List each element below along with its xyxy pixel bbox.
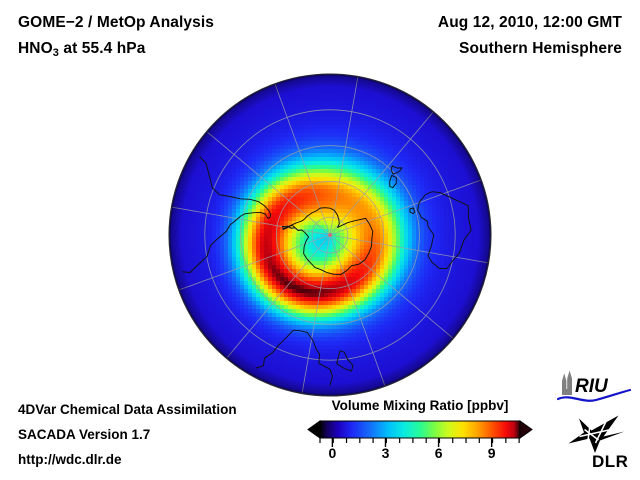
title-species-level: HNO3 at 55.4 hPa — [18, 40, 145, 59]
colorbar-title: Volume Mixing Ratio [ppbv] — [306, 398, 534, 413]
level-label: at 55.4 hPa — [59, 40, 146, 57]
title-instrument: GOME−2 / MetOp Analysis — [18, 14, 214, 32]
footer-url[interactable]: http://wdc.dlr.de — [18, 452, 122, 467]
polar-stereographic-globe — [168, 73, 492, 397]
colorbar-tick-label: 9 — [488, 445, 496, 461]
title-hemisphere: Southern Hemisphere — [459, 40, 622, 58]
colorbar-block: Volume Mixing Ratio [ppbv] 0369 — [306, 398, 534, 476]
dlr-logo: DLR — [562, 413, 636, 471]
colorbar-gradient — [308, 421, 532, 438]
dlr-wordmark: DLR — [592, 452, 628, 471]
colorbar-tick-label: 3 — [382, 445, 390, 461]
riu-spires-icon — [562, 371, 572, 396]
riu-logo: RIU — [556, 369, 634, 405]
dlr-mark-icon — [569, 416, 625, 454]
colorbar — [306, 419, 534, 461]
limb-shading — [169, 74, 491, 396]
polar-map — [168, 73, 492, 397]
footer-version: SACADA Version 1.7 — [18, 427, 150, 442]
title-datetime: Aug 12, 2010, 12:00 GMT — [438, 14, 622, 32]
footer-method: 4DVar Chemical Data Assimilation — [18, 402, 237, 417]
riu-wordmark: RIU — [575, 376, 609, 397]
species-label: HNO — [18, 40, 53, 57]
colorbar-tick-label: 6 — [435, 445, 443, 461]
colorbar-tick-label: 0 — [328, 445, 336, 461]
figure-canvas: GOME−2 / MetOp Analysis HNO3 at 55.4 hPa… — [0, 0, 640, 480]
